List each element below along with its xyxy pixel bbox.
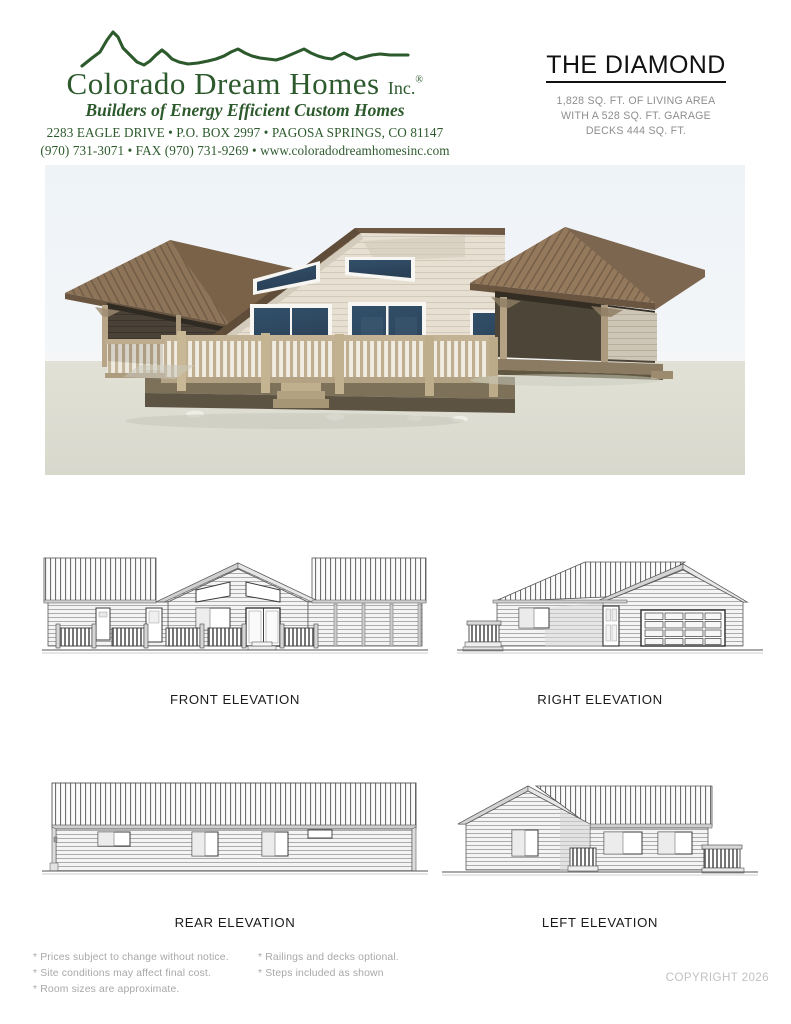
elevation-rear [40,775,430,887]
plan-specs: 1,828 SQ. FT. OF LIVING AREA WITH A 528 … [486,94,786,139]
note-item: * Room sizes are approximate. [33,982,263,998]
copyright-notice: COPYRIGHT 2026 [666,971,769,984]
caption-front-elevation: FRONT ELEVATION [120,692,350,707]
company-suffix: Inc. [388,78,415,98]
caption-rear-elevation: REAR ELEVATION [130,915,340,930]
spec-decks: DECKS 444 SQ. FT. [486,124,786,139]
mountain-ridge-icon [80,28,410,70]
company-name: Colorado Dream Homes [67,66,380,101]
disclaimer-notes-column-2: * Railings and decks optional. * Steps i… [258,950,473,982]
page-title: THE DIAMOND [546,52,725,83]
company-tagline: Builders of Energy Efficient Custom Home… [20,100,470,121]
company-contact: (970) 731-3071 • FAX (970) 731-9269 • ww… [20,143,470,159]
company-address: 2283 EAGLE DRIVE • P.O. BOX 2997 • PAGOS… [20,125,470,141]
spec-garage: WITH A 528 SQ. FT. GARAGE [486,109,786,124]
spec-living-area: 1,828 SQ. FT. OF LIVING AREA [486,94,786,109]
elevation-right [455,550,765,665]
company-name-line: Colorado Dream Homes Inc.® [20,68,470,99]
elevation-left [440,770,760,888]
caption-right-elevation: RIGHT ELEVATION [490,692,710,707]
caption-left-elevation: LEFT ELEVATION [495,915,705,930]
note-item: * Prices subject to change without notic… [33,950,263,966]
plan-title-block: THE DIAMOND 1,828 SQ. FT. OF LIVING AREA… [486,52,786,139]
sheet-header: Colorado Dream Homes Inc.® Builders of E… [0,0,791,160]
disclaimer-notes-column-1: * Prices subject to change without notic… [33,950,263,997]
elevation-front [40,550,430,665]
plan-sheet: Colorado Dream Homes Inc.® Builders of E… [0,0,791,1024]
note-item: * Railings and decks optional. [258,950,473,966]
registered-mark-icon: ® [415,75,423,86]
company-logo: Colorado Dream Homes Inc.® Builders of E… [20,28,470,159]
note-item: * Steps included as shown [258,966,473,982]
note-item: * Site conditions may affect final cost. [33,966,263,982]
exterior-3d-rendering [45,165,745,475]
